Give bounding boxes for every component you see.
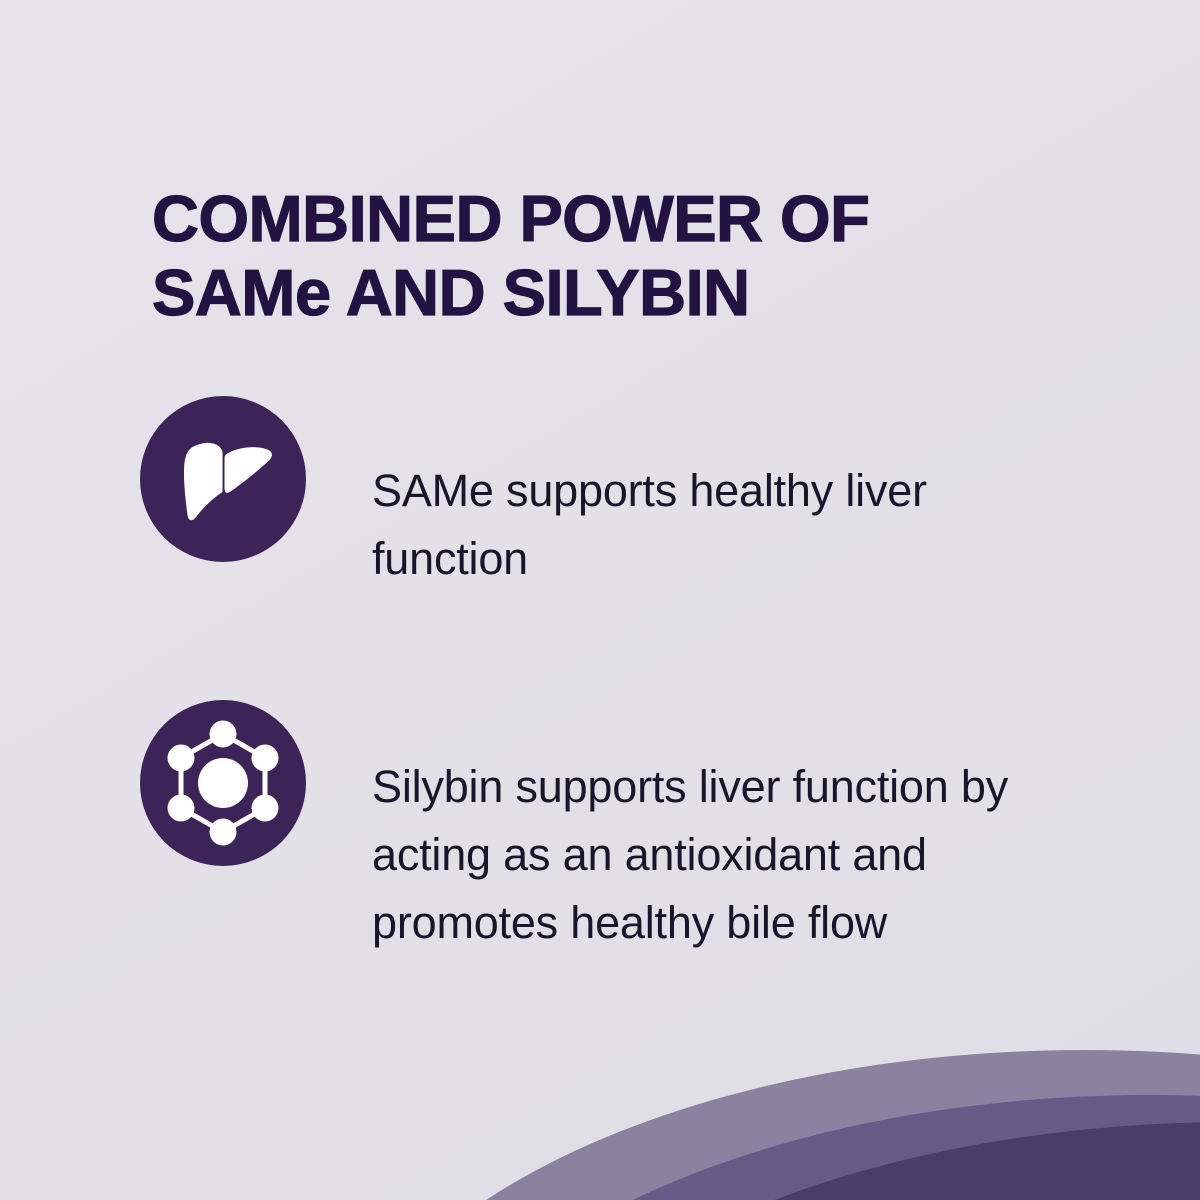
page-title-line-2: SAMe AND SILYBIN: [152, 256, 1052, 330]
arc-band-inner: [485, 1122, 1200, 1200]
feature-item-silybin: Silybin supports liver function by actin…: [140, 700, 1052, 1002]
feature-text-silybin: Silybin supports liver function by actin…: [372, 745, 1052, 957]
page-title: COMBINED POWER OF SAMe AND SILYBIN: [152, 182, 1052, 330]
liver-icon: [140, 396, 306, 562]
infographic-canvas: COMBINED POWER OF SAMe AND SILYBIN SAMe …: [0, 0, 1200, 1200]
feature-text-same: SAMe supports healthy liver function: [372, 441, 1032, 593]
page-title-line-1: COMBINED POWER OF: [152, 182, 1052, 256]
feature-item-same: SAMe supports healthy liver function: [140, 396, 1032, 638]
molecule-icon: [140, 700, 306, 866]
arc-band-mid: [405, 1095, 1200, 1200]
arc-band-outer: [325, 1050, 1200, 1200]
